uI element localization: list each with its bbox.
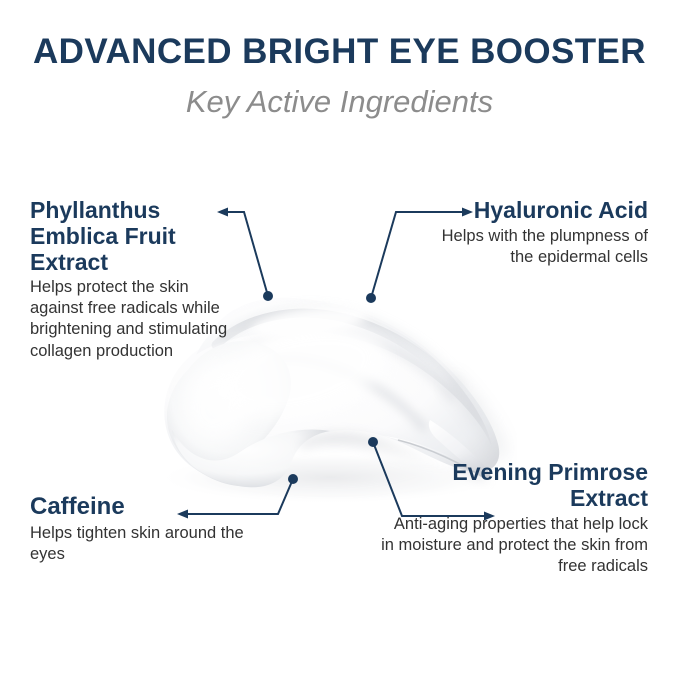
callout-caffeine: Caffeine Helps tighten skin around the e… xyxy=(30,494,270,565)
callout-heading-primrose: Evening Primrose Extract xyxy=(378,460,648,512)
page-title: ADVANCED BRIGHT EYE BOOSTER xyxy=(0,34,679,71)
callout-phyllanthus: Phyllanthus Emblica Fruit Extract Helps … xyxy=(30,198,245,362)
callout-body-hyaluronic: Helps with the plumpness of the epiderma… xyxy=(432,226,648,268)
callout-heading-caffeine: Caffeine xyxy=(30,494,270,521)
callout-heading-hyaluronic: Hyaluronic Acid xyxy=(432,198,648,224)
anchor-dot-primrose xyxy=(368,437,378,447)
anchor-dot-phyllanthus xyxy=(263,291,273,301)
callout-primrose: Evening Primrose Extract Anti-aging prop… xyxy=(378,460,648,577)
anchor-dot-hyaluronic xyxy=(366,293,376,303)
callout-body-primrose: Anti-aging properties that help lock in … xyxy=(378,514,648,577)
page-subtitle: Key Active Ingredients xyxy=(0,83,679,120)
infographic-canvas: ADVANCED BRIGHT EYE BOOSTER Key Active I… xyxy=(0,0,679,679)
callout-body-caffeine: Helps tighten skin around the eyes xyxy=(30,523,270,565)
callout-hyaluronic: Hyaluronic Acid Helps with the plumpness… xyxy=(432,198,648,268)
callout-body-phyllanthus: Helps protect the skin against free radi… xyxy=(30,277,245,361)
anchor-dot-caffeine xyxy=(288,474,298,484)
callout-heading-phyllanthus: Phyllanthus Emblica Fruit Extract xyxy=(30,198,245,275)
